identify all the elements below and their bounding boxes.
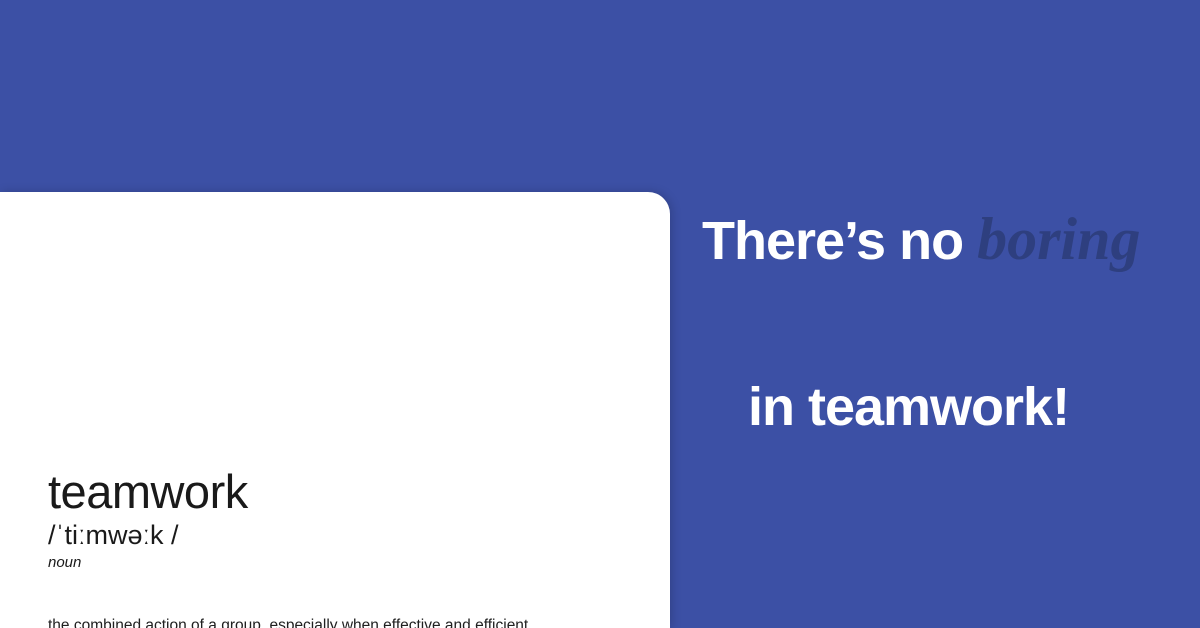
dictionary-definition: the combined action of a group, especial… — [48, 616, 638, 628]
headline-emphasis-word: boring — [977, 206, 1140, 272]
dictionary-card: teamwork /ˈtiːmwəːk / noun the combined … — [0, 192, 670, 628]
dictionary-phonetic: /ˈtiːmwəːk / — [48, 522, 179, 549]
headline-plain-text: There’s no — [702, 211, 977, 271]
promo-banner: teamwork /ˈtiːmwəːk / noun the combined … — [0, 0, 1200, 628]
dictionary-word: teamwork — [48, 468, 248, 515]
headline-line-1: There’s no boring — [702, 206, 1140, 272]
headline-line-2: in teamwork! — [748, 378, 1069, 437]
dictionary-part-of-speech: noun — [48, 555, 81, 570]
